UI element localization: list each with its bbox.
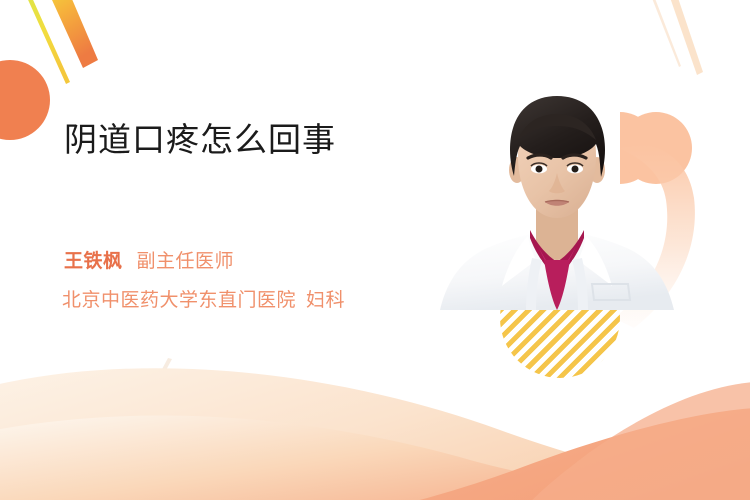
doctor-portrait [432,78,682,348]
doctor-rank: 副主任医师 [137,251,235,272]
stripe-decoration-top-left [20,0,98,84]
pupil-left [536,166,543,173]
wave-salmon-accent [528,382,750,500]
page-title: 阴道口疼怎么回事 [64,118,336,162]
wave-cream [0,368,750,500]
stripe-decoration-top-right [648,0,703,75]
doctor-name: 王铁枫 [64,251,123,272]
doctor-affiliation: 北京中医药大学东直门医院妇科 [62,288,345,314]
doctor-hospital: 北京中医药大学东直门医院 [62,290,296,311]
doctor-department: 妇科 [306,290,345,311]
wave-peach [0,416,750,500]
pupil-right [572,166,579,173]
video-cover-card: 阴道口疼怎么回事 王铁枫副主任医师 北京中医药大学东直门医院妇科 [0,0,750,500]
doctor-credentials: 王铁枫副主任医师 [64,249,234,275]
orange-circle-decoration [0,60,50,140]
stripe-decoration-bottom-left [146,358,172,400]
wave-salmon [400,408,750,500]
